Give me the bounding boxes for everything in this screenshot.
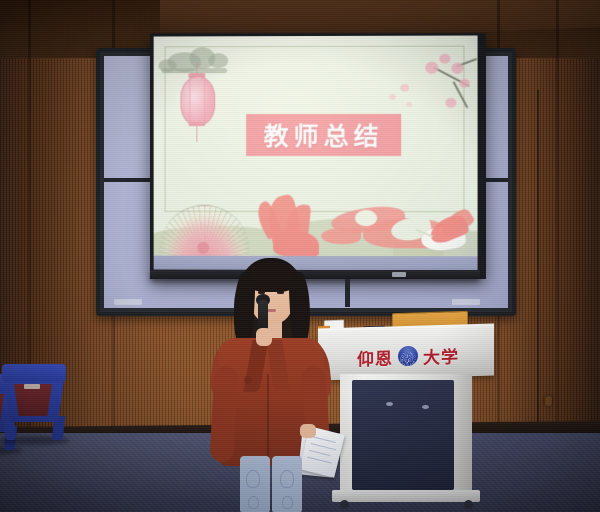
podium-branding: 仰恩 大学 bbox=[342, 342, 474, 370]
wave-pattern-icon bbox=[321, 228, 361, 244]
plum-blossom-icon bbox=[389, 94, 396, 100]
slide-bottom-decoration bbox=[154, 184, 478, 257]
panel-highlight bbox=[422, 405, 429, 409]
coat-button bbox=[244, 376, 252, 384]
coat-seam bbox=[267, 374, 269, 462]
plum-blossom-icon bbox=[400, 84, 409, 92]
marker-tray bbox=[452, 299, 480, 305]
photo-scene: 教师总结 bbox=[0, 0, 600, 512]
jeans-embroidery bbox=[246, 470, 260, 488]
left-arm bbox=[210, 365, 239, 462]
door-edge bbox=[537, 90, 539, 430]
panel-highlight bbox=[386, 402, 393, 406]
yangen-university-emblem-icon bbox=[398, 346, 418, 367]
caster-wheel bbox=[340, 500, 349, 509]
jeans-embroidery bbox=[282, 496, 293, 509]
podium-base bbox=[332, 490, 480, 502]
fan-hub bbox=[197, 242, 209, 254]
stool-seat bbox=[2, 364, 66, 382]
wave-negative-space bbox=[355, 210, 377, 226]
hanging-lantern-icon bbox=[180, 76, 215, 126]
plum-blossom-icon bbox=[425, 62, 438, 74]
hand-holding-papers bbox=[300, 424, 316, 438]
door-handle[interactable] bbox=[545, 396, 552, 406]
plum-blossom-icon bbox=[451, 63, 463, 74]
university-name-left: 仰恩 bbox=[357, 344, 393, 370]
lantern-rib bbox=[204, 78, 205, 122]
screen-pull-knob[interactable] bbox=[392, 272, 406, 277]
lantern-rib bbox=[189, 78, 190, 122]
plum-blossom-icon bbox=[406, 102, 412, 107]
marker-tray bbox=[114, 299, 142, 305]
jeans-embroidery bbox=[248, 496, 259, 509]
stool-label-tag bbox=[24, 384, 40, 389]
slide-title-banner: 教师总结 bbox=[246, 114, 401, 156]
lantern-tassel bbox=[196, 126, 197, 142]
projection-screen: 教师总结 bbox=[154, 36, 478, 271]
caster-wheel bbox=[464, 500, 473, 509]
plum-blossom-icon bbox=[439, 54, 450, 64]
jeans-embroidery bbox=[280, 470, 294, 488]
emblem-rays bbox=[400, 352, 416, 366]
cloud-motif-icon bbox=[208, 53, 228, 68]
screen-support-post bbox=[345, 279, 350, 307]
lectern-podium[interactable]: 仰恩 大学 bbox=[318, 312, 494, 508]
wall-panel-seam bbox=[556, 0, 559, 470]
plum-blossom-icon bbox=[445, 98, 456, 108]
university-name-right: 大学 bbox=[423, 342, 459, 368]
hand-holding-microphone bbox=[256, 328, 272, 346]
presenter bbox=[206, 258, 336, 512]
plum-blossom-icon bbox=[459, 79, 469, 88]
slide-title-text: 教师总结 bbox=[264, 117, 384, 153]
podium-dark-panel bbox=[352, 380, 454, 490]
